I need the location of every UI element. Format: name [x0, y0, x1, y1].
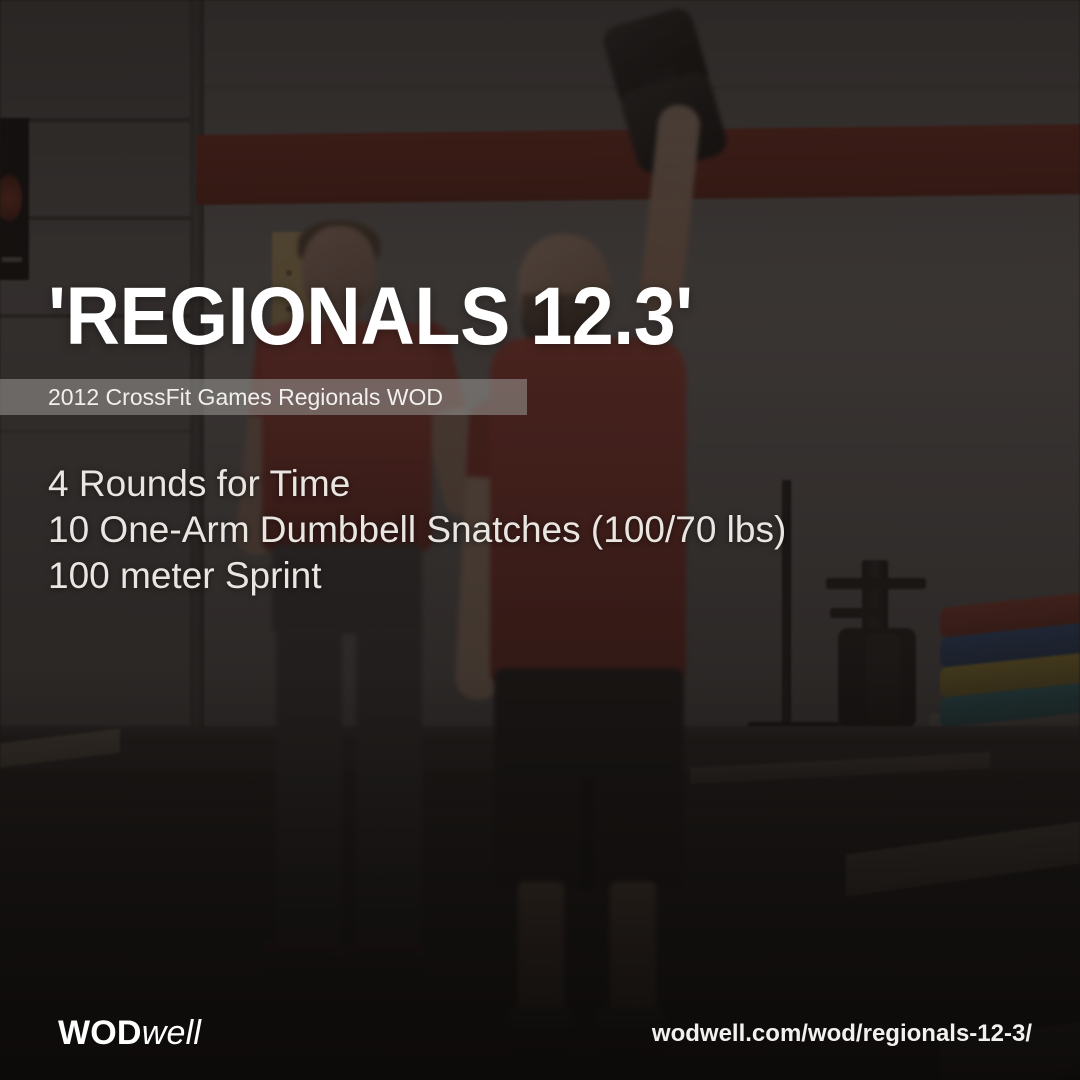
wod-subtitle: 2012 CrossFit Games Regionals WOD	[0, 384, 443, 411]
card-content: 'REGIONALS 12.3' 2012 CrossFit Games Reg…	[0, 0, 1080, 1080]
wod-url[interactable]: wodwell.com/wod/regionals-12-3/	[652, 1020, 1032, 1048]
wod-subtitle-bar: 2012 CrossFit Games Regionals WOD	[0, 379, 527, 415]
logo-well-text: well	[142, 1014, 201, 1052]
wodwell-logo[interactable]: WODwell	[58, 1014, 201, 1052]
wod-description: 4 Rounds for Time 10 One-Arm Dumbbell Sn…	[48, 461, 786, 599]
wod-line-rounds: 4 Rounds for Time	[48, 461, 786, 507]
wod-title: 'REGIONALS 12.3'	[48, 276, 693, 358]
wod-line-sprint: 100 meter Sprint	[48, 553, 786, 599]
wod-card: 'REGIONALS 12.3' 2012 CrossFit Games Reg…	[0, 0, 1080, 1080]
logo-wod-text: WOD	[58, 1014, 142, 1052]
wod-line-snatches: 10 One-Arm Dumbbell Snatches (100/70 lbs…	[48, 507, 786, 553]
